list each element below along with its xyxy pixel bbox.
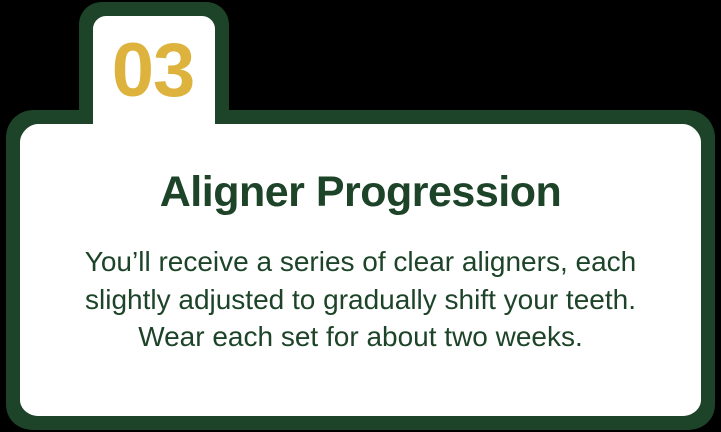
step-number-badge: 03 bbox=[78, 28, 228, 114]
card-body-line-2: slightly adjusted to gradually shift you… bbox=[34, 281, 687, 319]
card-body-line-1: You’ll receive a series of clear aligner… bbox=[34, 243, 687, 281]
card-body-text: You’ll receive a series of clear aligner… bbox=[34, 243, 687, 356]
card-title: Aligner Progression bbox=[26, 166, 695, 218]
card-body-line-3: Wear each set for about two weeks. bbox=[34, 318, 687, 356]
step-card-scene: 03 Aligner Progression You’ll receive a … bbox=[0, 0, 721, 432]
